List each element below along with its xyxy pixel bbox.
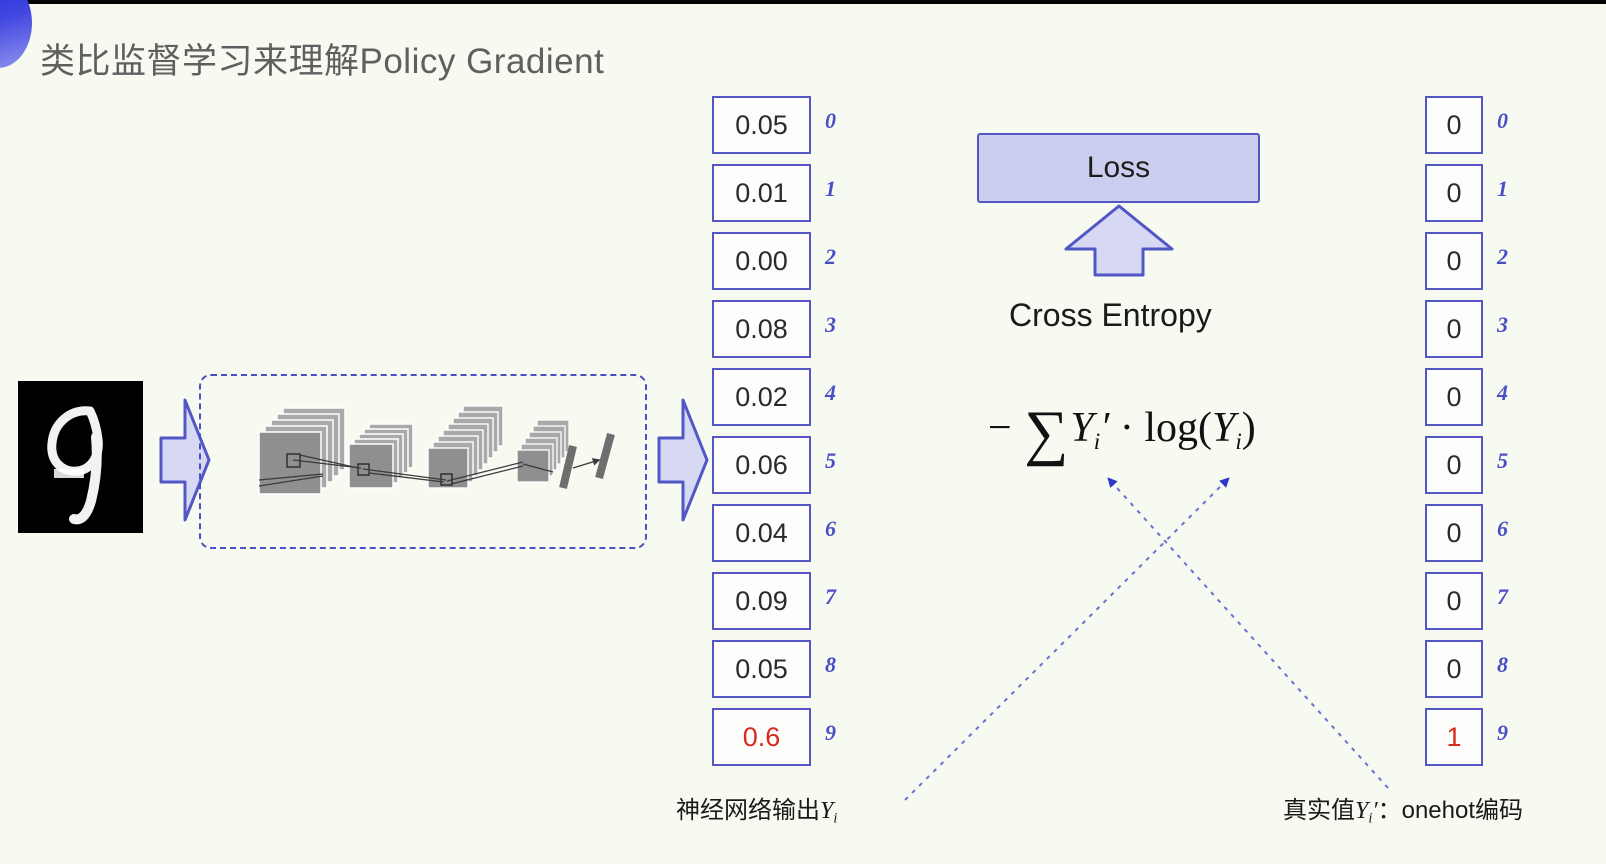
target-index-7: 7 bbox=[1497, 584, 1508, 610]
arrow-target-to-formula bbox=[1108, 478, 1388, 788]
target-cell-6[interactable]: 0 bbox=[1425, 504, 1483, 562]
target-row: 0 2 bbox=[1425, 232, 1483, 300]
mnist-digit-9-image bbox=[18, 381, 143, 533]
target-cell-3[interactable]: 0 bbox=[1425, 300, 1483, 358]
output-cell-0[interactable]: 0.05 bbox=[712, 96, 811, 154]
loss-up-arrow bbox=[1062, 203, 1176, 283]
output-row: 0.06 5 bbox=[712, 436, 811, 504]
cnn-dashed-container bbox=[199, 374, 647, 549]
loss-box[interactable]: Loss bbox=[977, 133, 1260, 203]
top-black-bar bbox=[0, 0, 1606, 4]
output-cell-6[interactable]: 0.04 bbox=[712, 504, 811, 562]
output-cell-5[interactable]: 0.06 bbox=[712, 436, 811, 494]
output-index-9: 9 bbox=[825, 720, 836, 746]
output-row: 0.00 2 bbox=[712, 232, 811, 300]
output-cell-4[interactable]: 0.02 bbox=[712, 368, 811, 426]
decorative-circle bbox=[0, 0, 32, 68]
cross-entropy-label: Cross Entropy bbox=[1009, 297, 1212, 334]
output-row: 0.08 3 bbox=[712, 300, 811, 368]
output-row: 0.02 4 bbox=[712, 368, 811, 436]
output-cell-2[interactable]: 0.00 bbox=[712, 232, 811, 290]
formula-dot: · bbox=[1120, 405, 1134, 451]
output-caption-text: 神经网络输出 bbox=[676, 797, 820, 824]
target-cell-1[interactable]: 0 bbox=[1425, 164, 1483, 222]
target-index-9: 9 bbox=[1497, 720, 1508, 746]
output-index-1: 1 bbox=[825, 176, 836, 202]
target-cell-2[interactable]: 0 bbox=[1425, 232, 1483, 290]
output-index-8: 8 bbox=[825, 652, 836, 678]
output-caption-symbol: Y bbox=[820, 798, 833, 824]
output-cell-3[interactable]: 0.08 bbox=[712, 300, 811, 358]
page-title: 类比监督学习来理解Policy Gradient bbox=[40, 33, 604, 84]
target-row: 0 6 bbox=[1425, 504, 1483, 572]
output-index-0: 0 bbox=[825, 108, 836, 134]
formula-sigma-icon: ∑ bbox=[1022, 399, 1070, 467]
output-arrow bbox=[655, 394, 711, 526]
target-row: 0 4 bbox=[1425, 368, 1483, 436]
output-row: 0.09 7 bbox=[712, 572, 811, 640]
target-row: 0 8 bbox=[1425, 640, 1483, 708]
output-cell-7[interactable]: 0.09 bbox=[712, 572, 811, 630]
formula-y: Y bbox=[1212, 405, 1235, 451]
target-caption: 真实值Yi′：onehot编码 bbox=[1283, 790, 1523, 827]
target-row: 0 5 bbox=[1425, 436, 1483, 504]
target-index-1: 1 bbox=[1497, 176, 1508, 202]
output-index-2: 2 bbox=[825, 244, 836, 270]
output-caption-sub: i bbox=[833, 810, 837, 826]
output-index-3: 3 bbox=[825, 312, 836, 338]
target-caption-text: 真实值 bbox=[1283, 797, 1355, 824]
formula-log: log( bbox=[1144, 405, 1212, 451]
target-cell-4[interactable]: 0 bbox=[1425, 368, 1483, 426]
formula-y-prime: Y bbox=[1070, 405, 1093, 451]
target-index-6: 6 bbox=[1497, 516, 1508, 542]
target-caption-suffix: ：onehot编码 bbox=[1378, 797, 1523, 824]
output-row: 0.6 9 bbox=[712, 708, 811, 776]
target-row: 1 9 bbox=[1425, 708, 1483, 776]
arrow-output-to-formula bbox=[905, 478, 1229, 800]
output-cell-1[interactable]: 0.01 bbox=[712, 164, 811, 222]
output-index-6: 6 bbox=[825, 516, 836, 542]
target-index-2: 2 bbox=[1497, 244, 1508, 270]
target-row: 0 3 bbox=[1425, 300, 1483, 368]
output-cell-8[interactable]: 0.05 bbox=[712, 640, 811, 698]
target-row: 0 7 bbox=[1425, 572, 1483, 640]
target-cell-5[interactable]: 0 bbox=[1425, 436, 1483, 494]
output-index-5: 5 bbox=[825, 448, 836, 474]
output-index-4: 4 bbox=[825, 380, 836, 406]
target-row: 0 0 bbox=[1425, 96, 1483, 164]
target-cell-7[interactable]: 0 bbox=[1425, 572, 1483, 630]
cross-entropy-formula: − ∑Yi′ · log(Yi) bbox=[988, 398, 1256, 469]
formula-prime-mark: ′ bbox=[1100, 405, 1109, 451]
target-index-4: 4 bbox=[1497, 380, 1508, 406]
target-index-5: 5 bbox=[1497, 448, 1508, 474]
target-index-8: 8 bbox=[1497, 652, 1508, 678]
target-index-3: 3 bbox=[1497, 312, 1508, 338]
formula-minus: − bbox=[988, 405, 1012, 451]
formula-close-paren: ) bbox=[1242, 405, 1256, 451]
neural-network-output-column: 0.05 0 0.01 1 0.00 2 0.08 3 0.02 4 0.06 … bbox=[712, 96, 811, 776]
output-row: 0.05 8 bbox=[712, 640, 811, 708]
target-index-0: 0 bbox=[1497, 108, 1508, 134]
output-row: 0.01 1 bbox=[712, 164, 811, 232]
output-index-7: 7 bbox=[825, 584, 836, 610]
target-cell-8[interactable]: 0 bbox=[1425, 640, 1483, 698]
target-caption-symbol: Y bbox=[1355, 798, 1368, 824]
target-cell-9[interactable]: 1 bbox=[1425, 708, 1483, 766]
output-row: 0.05 0 bbox=[712, 96, 811, 164]
slide-canvas: 类比监督学习来理解Policy Gradient bbox=[0, 0, 1606, 864]
target-row: 0 1 bbox=[1425, 164, 1483, 232]
target-cell-0[interactable]: 0 bbox=[1425, 96, 1483, 154]
output-row: 0.04 6 bbox=[712, 504, 811, 572]
output-cell-9[interactable]: 0.6 bbox=[712, 708, 811, 766]
output-caption: 神经网络输出Yi bbox=[676, 790, 837, 827]
ground-truth-onehot-column: 0 0 0 1 0 2 0 3 0 4 0 5 0 6 0 7 bbox=[1425, 96, 1483, 776]
